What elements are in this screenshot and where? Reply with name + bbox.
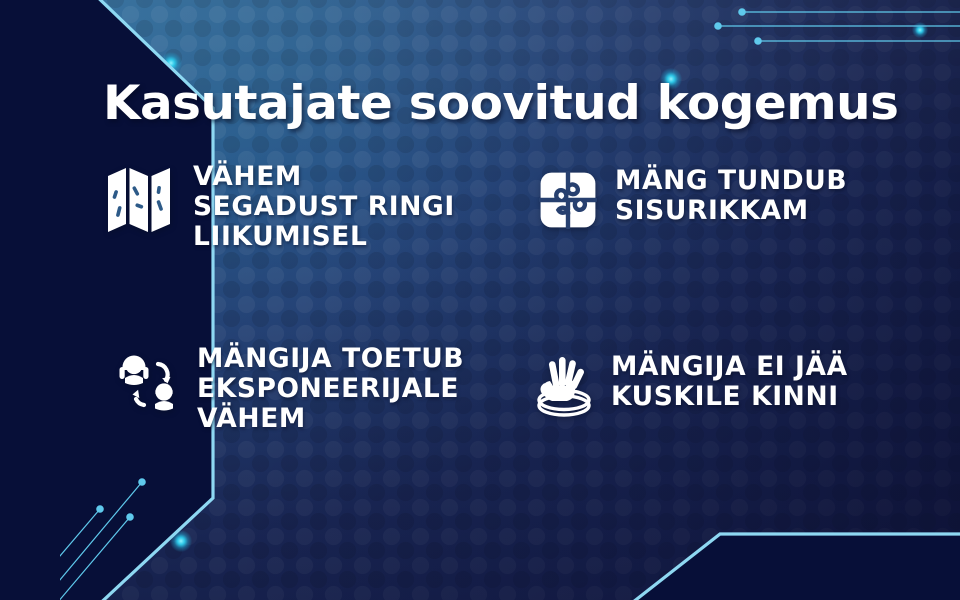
benefit-item-3: MÄNGIJA TOETUB EKSPONEERIJALE VÄHEM	[111, 340, 464, 434]
benefit-line: MÄNGIJA TOETUB	[197, 344, 464, 374]
benefit-line: MÄNGIJA EI JÄÄ	[611, 352, 848, 382]
player-support-exchange-icon	[111, 340, 183, 420]
bottom-right-angled-panel	[540, 480, 960, 600]
page-title: Kasutajate soovitud kogemus	[103, 76, 898, 131]
benefit-line: SEGADUST RINGI	[193, 192, 455, 222]
benefit-line: SISURIKKAM	[615, 196, 847, 226]
benefit-line: EKSPONEERIJALE	[197, 374, 464, 404]
benefit-label: MÄNGIJA TOETUB EKSPONEERIJALE VÄHEM	[197, 340, 464, 434]
hand-in-quicksand-icon	[531, 350, 597, 422]
folded-map-icon	[103, 158, 175, 238]
puzzle-pieces-icon	[535, 164, 601, 236]
glow-dot	[912, 22, 928, 38]
benefit-item-4: MÄNGIJA EI JÄÄ KUSKILE KINNI	[531, 350, 848, 422]
benefit-line: LIIKUMISEL	[193, 222, 455, 252]
benefits-grid: VÄHEM SEGADUST RINGI LIIKUMISEL	[103, 158, 915, 458]
benefit-line: VÄHEM	[193, 162, 455, 192]
benefit-line: VÄHEM	[197, 404, 464, 434]
benefit-label: MÄNG TUNDUB SISURIKKAM	[615, 164, 847, 226]
slide-canvas: Kasutajate soovitud kogemus	[0, 0, 960, 600]
benefit-line: MÄNG TUNDUB	[615, 166, 847, 196]
benefit-line: KUSKILE KINNI	[611, 382, 848, 412]
benefit-label: VÄHEM SEGADUST RINGI LIIKUMISEL	[193, 158, 455, 252]
benefit-label: MÄNGIJA EI JÄÄ KUSKILE KINNI	[611, 350, 848, 412]
benefit-item-2: MÄNG TUNDUB SISURIKKAM	[535, 164, 847, 236]
benefit-item-1: VÄHEM SEGADUST RINGI LIIKUMISEL	[103, 158, 455, 252]
